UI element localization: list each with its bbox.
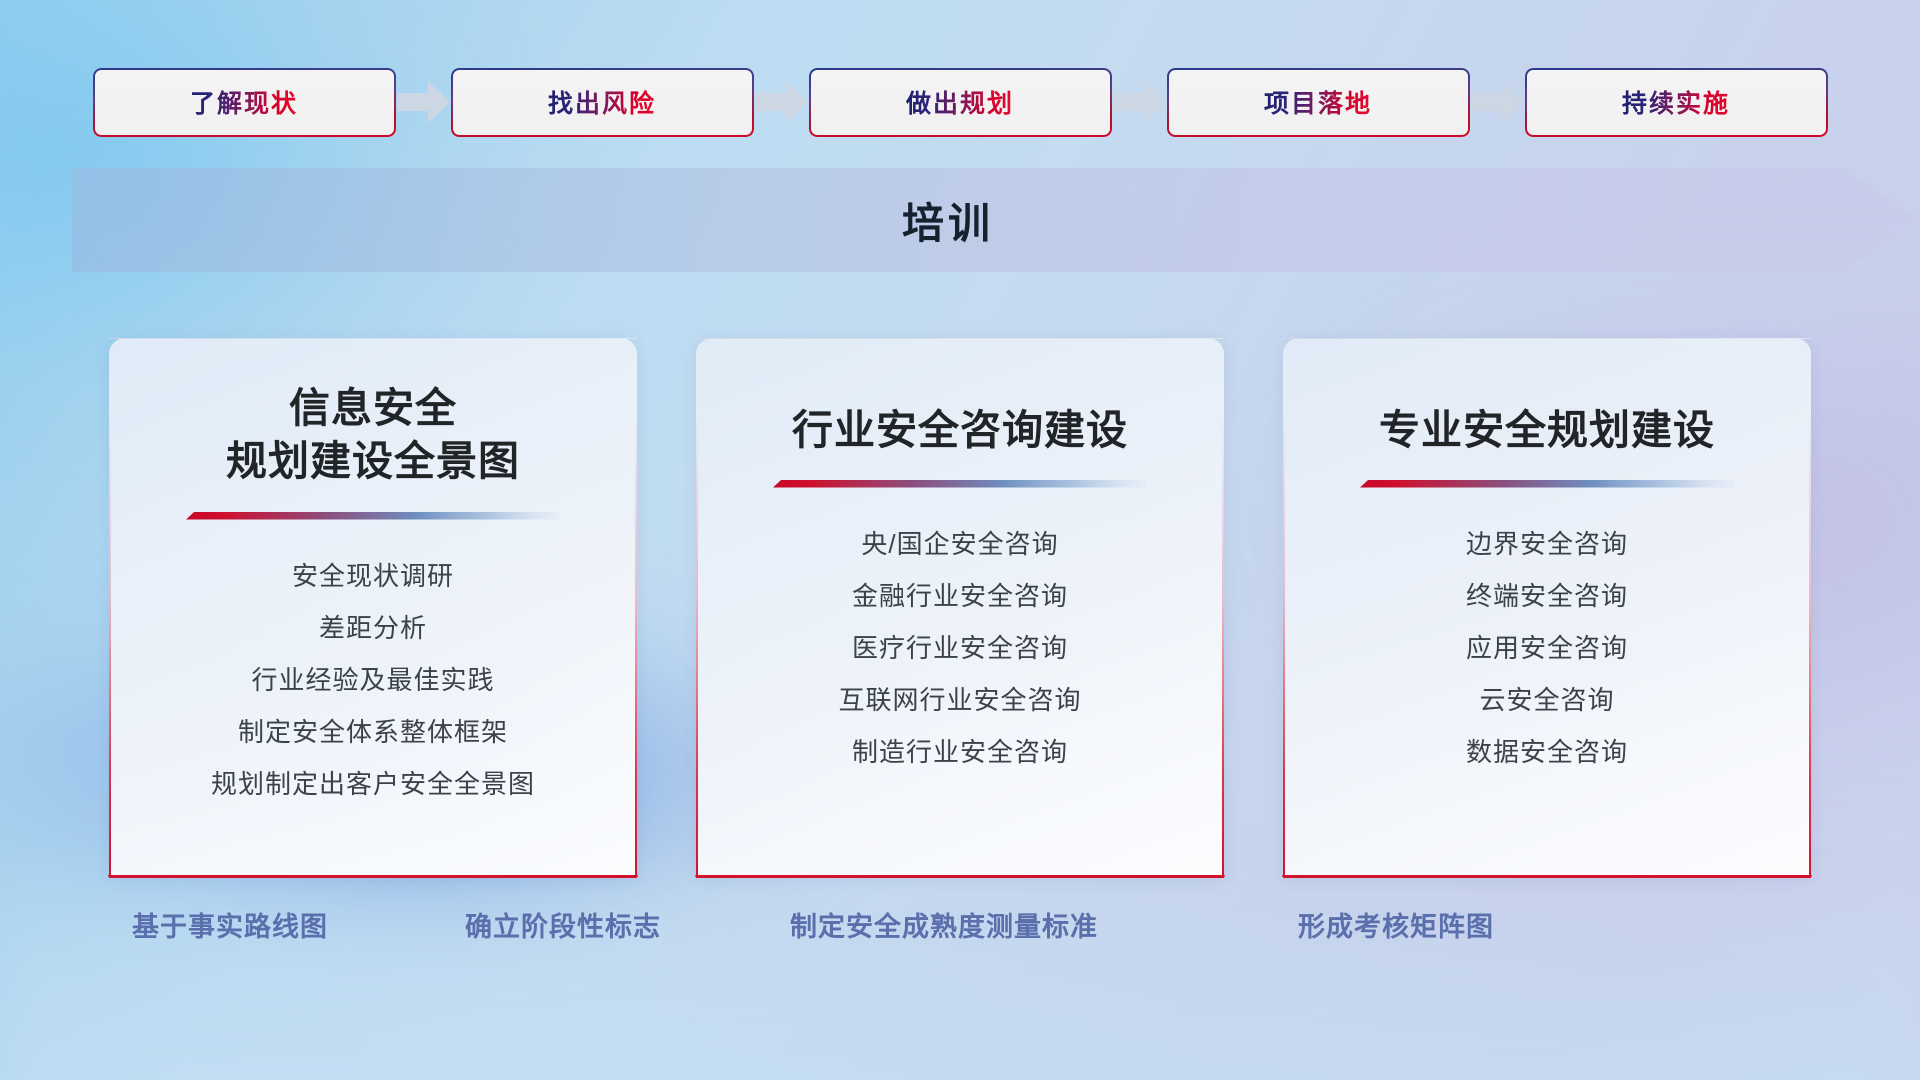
footnote-row: 基于事实路线图 确立阶段性标志 制定安全成熟度测量标准 形成考核矩阵图 bbox=[0, 905, 1920, 975]
list-item: 规划制定出客户安全全景图 bbox=[211, 758, 535, 810]
arrow-right-icon bbox=[1471, 80, 1524, 124]
footnote-label: 形成考核矩阵图 bbox=[1298, 905, 1494, 944]
list-item: 行业经验及最佳实践 bbox=[251, 654, 494, 706]
list-item: 安全现状调研 bbox=[292, 550, 454, 602]
banner-label: 培训 bbox=[72, 168, 1920, 272]
card-item-list: 边界安全咨询 终端安全咨询 应用安全咨询 云安全咨询 数据安全咨询 bbox=[1466, 518, 1628, 778]
card-title: 信息安全 规划建设全景图 bbox=[226, 382, 520, 489]
card-title: 行业安全咨询建设 bbox=[792, 404, 1128, 457]
process-step-1-label: 了解现状 bbox=[190, 84, 298, 120]
card-item-list: 安全现状调研 差距分析 行业经验及最佳实践 制定安全体系整体框架 规划制定出客户… bbox=[211, 550, 535, 810]
card-industry-security-consulting[interactable]: 行业安全咨询建设 央/国企安全咨询 金融行业安全咨询 bbox=[696, 338, 1224, 878]
process-step-2[interactable]: 找出风险 bbox=[451, 68, 754, 137]
title-divider bbox=[186, 511, 560, 522]
process-step-4[interactable]: 项目落地 bbox=[1167, 68, 1470, 137]
card-information-security-blueprint[interactable]: 信息安全 规划建设全景图 安全现状调研 差距分析 行 bbox=[109, 338, 637, 878]
process-step-5[interactable]: 持续实施 bbox=[1525, 68, 1828, 137]
list-item: 数据安全咨询 bbox=[1466, 726, 1628, 778]
list-item: 金融行业安全咨询 bbox=[852, 570, 1068, 622]
list-item: 制定安全体系整体框架 bbox=[238, 706, 508, 758]
footnote-label: 制定安全成熟度测量标准 bbox=[790, 905, 1098, 944]
process-step-group-5: 持续实施 bbox=[1525, 68, 1828, 137]
card-row: 信息安全 规划建设全景图 安全现状调研 差距分析 行 bbox=[0, 338, 1920, 878]
process-step-2-label: 找出风险 bbox=[548, 84, 656, 120]
footnote-label: 确立阶段性标志 bbox=[465, 905, 661, 944]
footnote-label: 基于事实路线图 bbox=[132, 905, 328, 944]
training-banner: 培训 bbox=[72, 168, 1920, 272]
process-step-group-1: 了解现状 bbox=[93, 68, 451, 137]
list-item: 医疗行业安全咨询 bbox=[852, 622, 1068, 674]
process-step-group-2: 找出风险 bbox=[451, 68, 809, 137]
list-item: 差距分析 bbox=[319, 602, 427, 654]
title-divider bbox=[1360, 479, 1734, 490]
list-item: 终端安全咨询 bbox=[1466, 570, 1628, 622]
title-divider bbox=[773, 479, 1147, 490]
card-item-list: 央/国企安全咨询 金融行业安全咨询 医疗行业安全咨询 互联网行业安全咨询 制造行… bbox=[838, 518, 1081, 778]
list-item: 边界安全咨询 bbox=[1466, 518, 1628, 570]
process-step-5-label: 持续实施 bbox=[1622, 84, 1730, 120]
list-item: 央/国企安全咨询 bbox=[861, 518, 1058, 570]
process-step-1[interactable]: 了解现状 bbox=[93, 68, 396, 137]
arrow-right-icon bbox=[1113, 80, 1166, 124]
process-step-4-label: 项目落地 bbox=[1264, 84, 1372, 120]
process-step-row: 了解现状 找出风险 做出规划 项目落地 持续实施 bbox=[0, 62, 1920, 142]
process-step-group-3: 做出规划 bbox=[809, 68, 1167, 137]
card-professional-security-planning[interactable]: 专业安全规划建设 边界安全咨询 终端安全咨询 应用安 bbox=[1283, 338, 1811, 878]
card-title: 专业安全规划建设 bbox=[1379, 404, 1715, 457]
list-item: 制造行业安全咨询 bbox=[852, 726, 1068, 778]
list-item: 互联网行业安全咨询 bbox=[838, 674, 1081, 726]
list-item: 云安全咨询 bbox=[1479, 674, 1614, 726]
arrow-right-icon bbox=[755, 80, 808, 124]
process-step-group-4: 项目落地 bbox=[1167, 68, 1525, 137]
process-step-3[interactable]: 做出规划 bbox=[809, 68, 1112, 137]
list-item: 应用安全咨询 bbox=[1466, 622, 1628, 674]
process-step-3-label: 做出规划 bbox=[906, 84, 1014, 120]
arrow-right-icon bbox=[397, 80, 450, 124]
